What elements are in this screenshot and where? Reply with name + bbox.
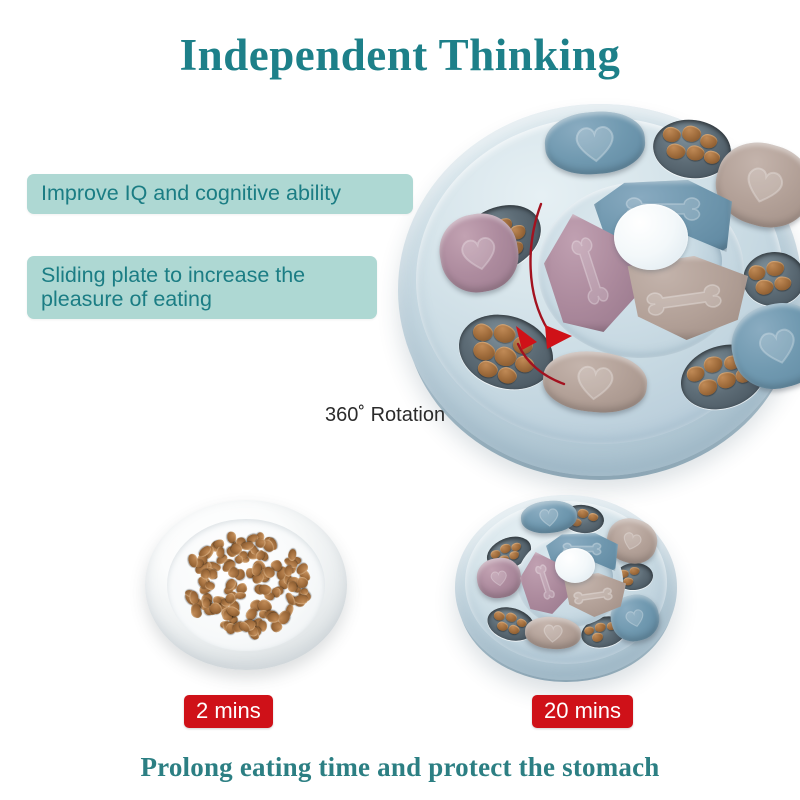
main-product-image-puzzle-feeder <box>398 104 800 476</box>
bone-icon <box>533 562 557 602</box>
center-hub-cap[interactable] <box>555 548 595 583</box>
bone-icon <box>567 232 613 310</box>
bone-icon <box>571 586 615 606</box>
heart-icon <box>536 506 562 528</box>
badge-time-plate: 2 mins <box>184 695 273 728</box>
heart-icon <box>488 568 510 588</box>
puzzle-feeder-with-kibble <box>455 495 677 680</box>
heart-icon <box>455 232 503 275</box>
callout-sliding-plate: Sliding plate to increase the pleasure o… <box>27 256 377 319</box>
plain-plate-with-kibble <box>145 500 347 670</box>
kibble-piece <box>255 538 266 548</box>
heart-icon <box>752 322 800 370</box>
heart-icon <box>622 606 648 630</box>
product-marketing-page: Independent Thinking <box>0 0 800 800</box>
kibble-pile <box>145 500 347 670</box>
heart-icon <box>540 622 565 644</box>
badge-time-feeder: 20 mins <box>532 695 633 728</box>
heart-icon <box>619 529 645 553</box>
heart-icon <box>571 121 620 164</box>
page-title: Independent Thinking <box>0 32 800 79</box>
rotation-label: 360˚ Rotation <box>325 404 445 427</box>
bone-icon <box>642 281 727 318</box>
kibble-piece <box>297 576 308 587</box>
footer-caption: Prolong eating time and protect the stom… <box>0 752 800 783</box>
kibble-piece <box>283 565 293 577</box>
kibble-piece <box>300 587 308 595</box>
center-hub-cap[interactable] <box>614 204 688 270</box>
callout-improve-iq: Improve IQ and cognitive ability <box>27 174 413 214</box>
kibble-piece <box>294 595 308 604</box>
heart-icon <box>738 161 791 210</box>
heart-icon <box>570 361 619 403</box>
